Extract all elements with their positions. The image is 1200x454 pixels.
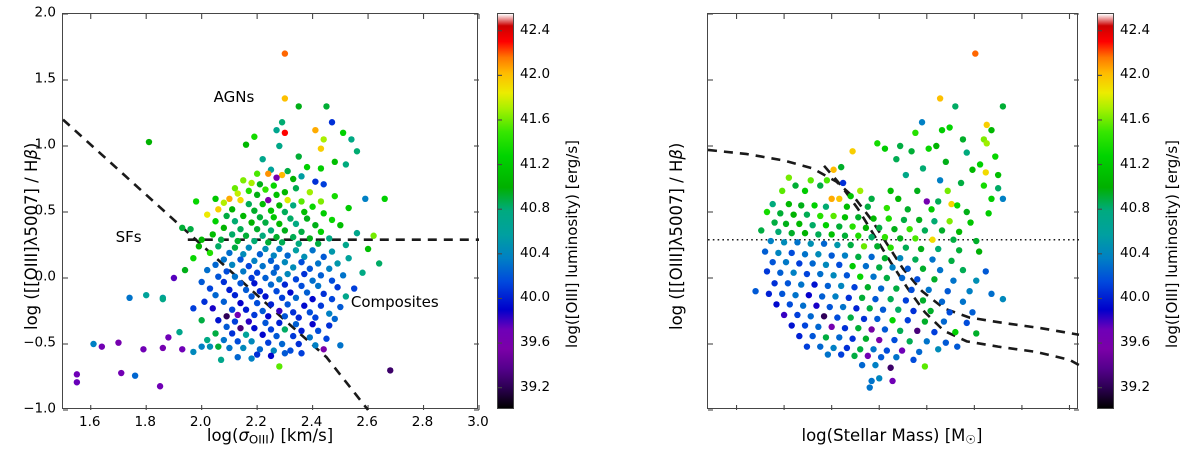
xtick-label: 2.8 (412, 416, 433, 430)
colorbar-tick-label: 39.6 (520, 334, 550, 350)
colorbar-tick-label: 42.0 (520, 66, 550, 82)
colorbar-right (1097, 13, 1114, 409)
xtick-label: 2.6 (356, 416, 377, 430)
scatter-points (752, 50, 1006, 390)
colorbar-tick-label: 41.2 (1120, 156, 1150, 172)
ytick-label: 2.0 (16, 6, 56, 20)
ytick-label: 1.5 (16, 72, 56, 86)
colorbar-tick-label: 41.6 (520, 111, 550, 127)
xtick-label: 1.8 (134, 416, 155, 430)
colorbar-title-right: log([OIII] luminosity) [erg/s] (1163, 140, 1181, 348)
xtick-label: 1.6 (79, 416, 100, 430)
colorbar-tick-label: 40.4 (520, 245, 550, 261)
colorbar-tick-label: 41.6 (1120, 111, 1150, 127)
region-label-agns: AGNs (214, 88, 255, 106)
plot-canvas-right (708, 14, 1079, 410)
colorbar-tick-label: 42.4 (1120, 22, 1150, 38)
xtick-label: 3.0 (467, 416, 488, 430)
xaxis-title-right: log(Stellar Mass) [M☉] (802, 426, 983, 447)
colorbar-tick-label: 40.8 (1120, 200, 1150, 216)
ytick-label: −0.5 (16, 336, 56, 350)
axes-right (707, 13, 1078, 409)
region-label-sfs: SFs (116, 228, 142, 246)
colorbar-title-left: log([OIII] luminosity) [erg/s] (563, 140, 581, 348)
colorbar-ticks (1098, 14, 1115, 410)
xaxis-title-left: log(σOIII) [km/s] (207, 426, 333, 447)
figure-root: AGNsSFsComposites1.61.82.02.22.42.62.83.… (0, 0, 1200, 454)
colorbar-tick-label: 39.2 (520, 379, 550, 395)
yaxis-title-right: log ([[OIII]λ5007] / Hβ) (667, 143, 686, 330)
colorbar-tick-label: 42.4 (520, 22, 550, 38)
plot-canvas-left (63, 14, 479, 410)
colorbar-tick-label: 40.0 (1120, 289, 1150, 305)
colorbar-tick-label: 41.2 (520, 156, 550, 172)
colorbar-tick-label: 40.8 (520, 200, 550, 216)
yaxis-title-left: log ([[OIII]λ5007] / Hβ) (22, 143, 41, 330)
region-label-composites: Composites (351, 293, 439, 311)
colorbar-tick-label: 39.2 (1120, 379, 1150, 395)
colorbar-tick-label: 39.6 (1120, 334, 1150, 350)
axes-left (62, 13, 478, 409)
ytick-label: −1.0 (16, 402, 56, 416)
colorbar-ticks (498, 14, 515, 410)
colorbar-tick-label: 42.0 (1120, 66, 1150, 82)
colorbar-tick-label: 40.0 (520, 289, 550, 305)
colorbar-tick-label: 40.4 (1120, 245, 1150, 261)
colorbar-left (497, 13, 514, 409)
